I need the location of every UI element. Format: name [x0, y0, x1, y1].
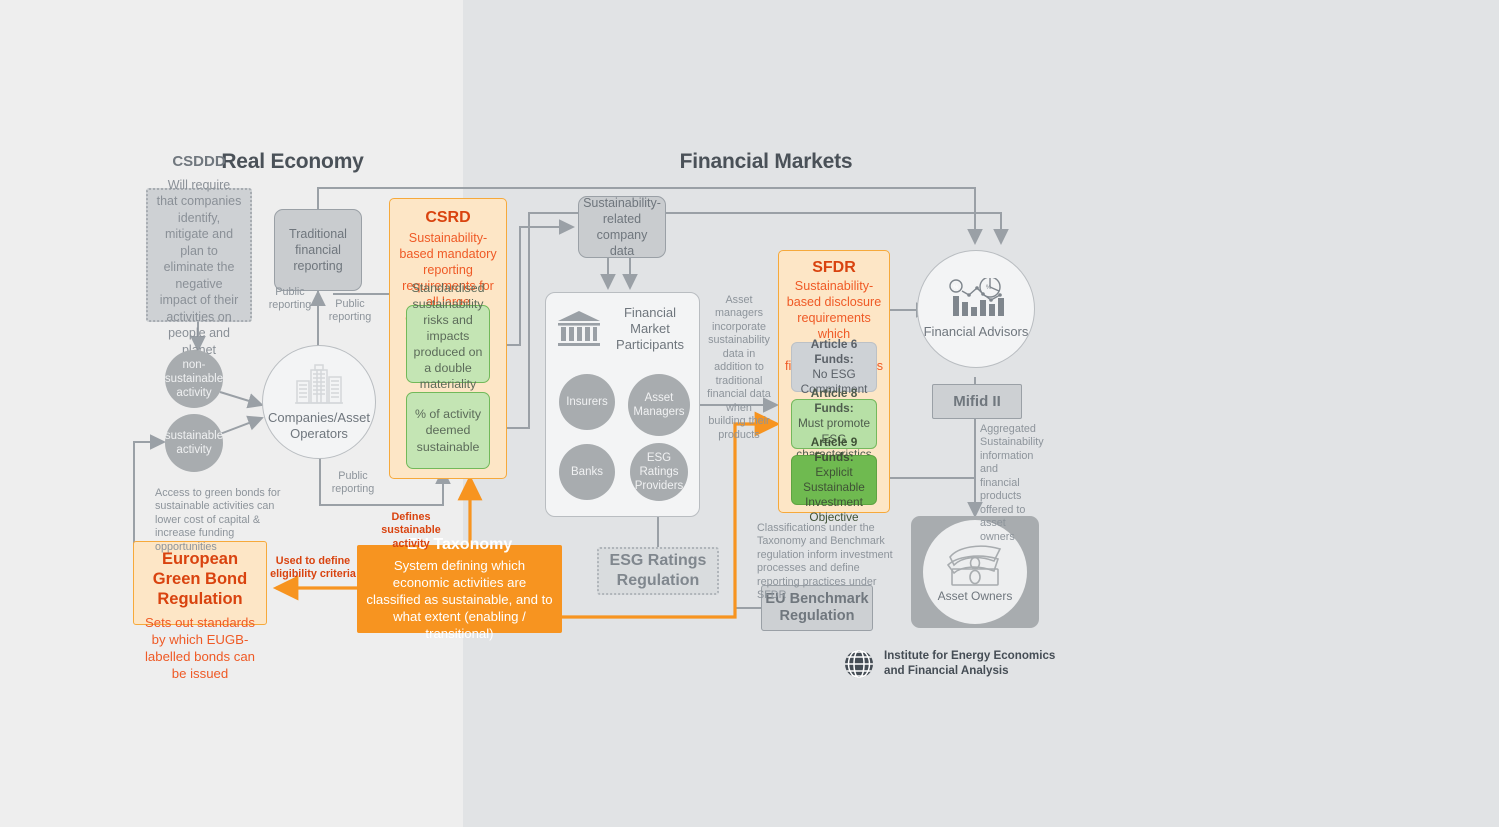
ieefa-logo: Institute for Energy Economics and Finan… — [843, 648, 1055, 680]
mifid-ii-box[interactable]: Mifid II — [932, 384, 1022, 419]
bank-icon — [556, 309, 602, 349]
fmp-member-esg-ratings-providers[interactable]: ESG Ratings Providers — [630, 443, 688, 501]
section-title-financial-markets: Financial Markets — [660, 150, 872, 174]
sfdr-article-9-funds-box[interactable]: Article 9 Funds: Explicit Sustainable In… — [791, 455, 877, 505]
eu-taxonomy-box[interactable]: EU Taxonomy System defining which econom… — [357, 545, 562, 633]
non-sustainable-activity-circle[interactable]: non-sustainable activity — [165, 350, 223, 408]
csddd-body: Will require that companies identify, mi… — [156, 177, 242, 359]
annotation-public-reporting-3: Public reporting — [325, 470, 381, 497]
annotation-aggregated: Aggregated Sustainability information an… — [980, 423, 1040, 544]
financial-advisors-circle[interactable]: % % Financial Advisors — [917, 250, 1035, 368]
annotation-used-to-define: Used to define eligibility criteria — [270, 555, 356, 582]
asset-owners-label: Asset Owners — [938, 589, 1013, 603]
article-8-name: Article 8 Funds: — [811, 386, 858, 415]
csrd-percent-activity-box[interactable]: % of activity deemed sustainable — [406, 392, 490, 469]
csddd-box[interactable]: CSDDD Will require that companies identi… — [146, 188, 252, 322]
traditional-financial-reporting-box[interactable]: Traditional financial reporting — [274, 209, 362, 291]
article-6-name: Article 6 Funds: — [811, 337, 858, 366]
banknotes-icon — [942, 541, 1008, 587]
annotation-defines-sustainable-activity: Defines sustainable activity — [368, 511, 454, 551]
annotation-classifications: Classifications under the Taxonomy and B… — [757, 522, 897, 603]
csrd-title: CSRD — [390, 209, 506, 227]
svg-text:%: % — [986, 285, 992, 291]
financial-advisors-label: Financial Advisors — [924, 324, 1029, 340]
sfdr-title: SFDR — [779, 259, 889, 277]
annotation-public-reporting-1: Public reporting — [262, 286, 318, 313]
logo-line-1: Institute for Energy Economics — [884, 649, 1055, 664]
buildings-icon — [293, 363, 345, 407]
eugb-title: European Green Bond Regulation — [140, 550, 260, 609]
csrd-standardised-sustainability-box[interactable]: Standardised sustainability risks and im… — [406, 305, 490, 383]
article-9-desc: Explicit Sustainable Investment Objectiv… — [803, 465, 865, 524]
fmp-member-asset-managers[interactable]: Asset Managers — [628, 374, 690, 436]
csddd-title: CSDDD — [172, 152, 225, 172]
svg-text:%: % — [953, 285, 959, 291]
annotation-asset-managers: Asset managers incorporate sustainabilit… — [707, 294, 771, 442]
chart-analytics-icon: % % — [945, 278, 1007, 320]
eugb-body: Sets out standards by which EUGB-labelle… — [140, 615, 260, 683]
companies-asset-operators-label: Companies/Asset Operators — [263, 410, 375, 441]
companies-asset-operators-circle[interactable]: Companies/Asset Operators — [262, 345, 376, 459]
globe-grid-icon — [843, 648, 875, 680]
sustainability-related-company-data-box[interactable]: Sustainability-related company data — [578, 196, 666, 258]
fmp-member-insurers[interactable]: Insurers — [559, 374, 615, 430]
diagram-canvas: Real Economy Financial Markets CSDDD Wil… — [0, 0, 1499, 827]
fmp-member-banks[interactable]: Banks — [559, 444, 615, 500]
sustainable-activity-circle[interactable]: sustainable activity — [165, 414, 223, 472]
annotation-public-reporting-2: Public reporting — [322, 298, 378, 325]
article-9-name: Article 9 Funds: — [811, 435, 858, 464]
eu-taxonomy-body: System defining which economic activitie… — [366, 557, 553, 643]
logo-line-2: and Financial Analysis — [884, 664, 1055, 679]
annotation-green-bonds: Access to green bonds for sustainable ac… — [155, 487, 295, 554]
sfdr-article-6-funds-box[interactable]: Article 6 Funds: No ESG Commitment — [791, 342, 877, 392]
financial-market-participants-label: Financial Market Participants — [609, 305, 691, 353]
esg-ratings-regulation-box[interactable]: ESG Ratings Regulation — [597, 547, 719, 595]
